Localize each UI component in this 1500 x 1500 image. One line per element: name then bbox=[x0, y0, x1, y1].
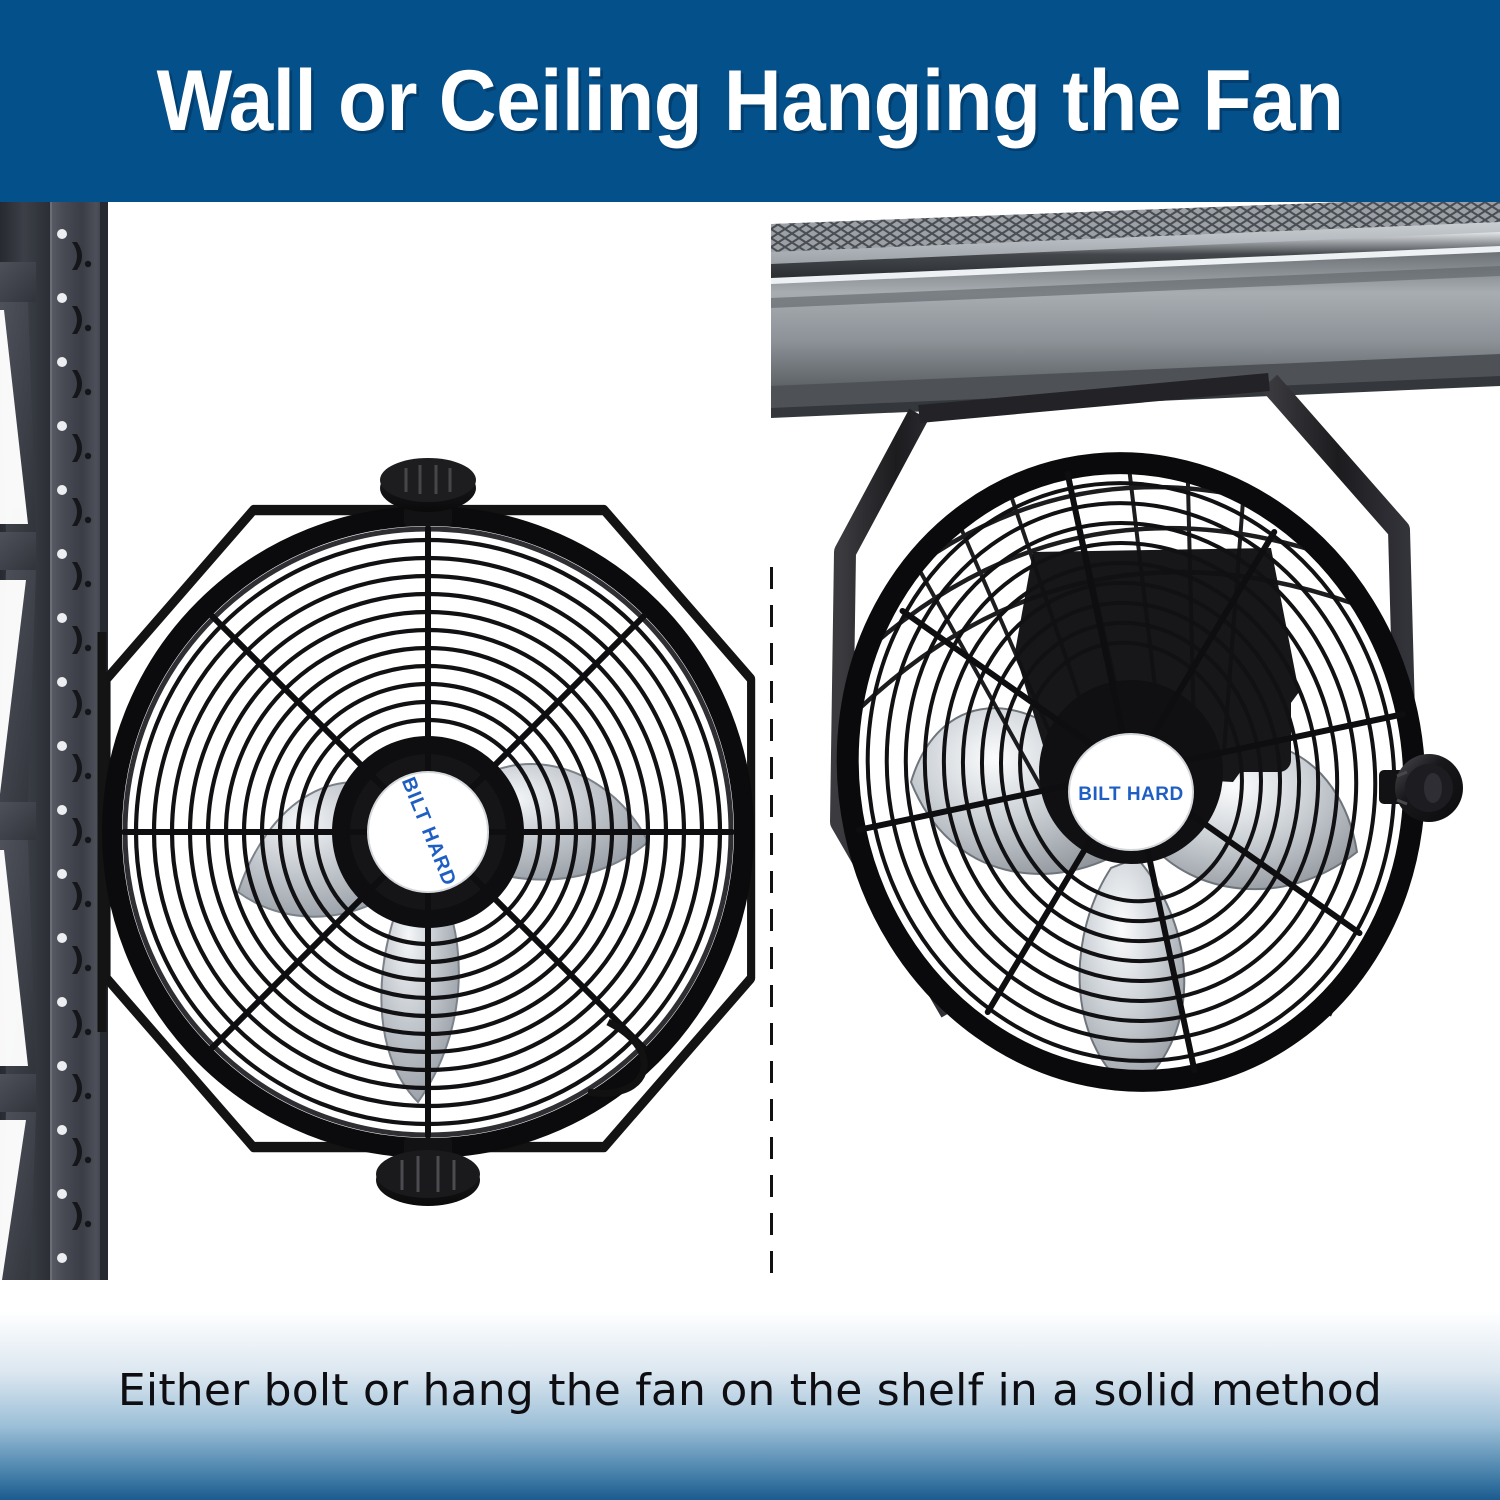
footer-caption: Either bolt or hang the fan on the shelf… bbox=[118, 1365, 1382, 1416]
panel-divider bbox=[770, 567, 773, 1280]
fan-ceiling-mounted: BILT HARD bbox=[801, 352, 1500, 1212]
footer-banner: Either bolt or hang the fan on the shelf… bbox=[0, 1280, 1500, 1500]
page-title: Wall or Ceiling Hanging the Fan bbox=[157, 52, 1344, 151]
infographic-page: Wall or Ceiling Hanging the Fan bbox=[0, 0, 1500, 1500]
header-banner: Wall or Ceiling Hanging the Fan bbox=[0, 0, 1500, 202]
fan-wall-mounted: BILT HARD bbox=[88, 332, 768, 1280]
image-band: BILT HARD bbox=[0, 202, 1500, 1280]
fan-brand-label-2: BILT HARD bbox=[1078, 784, 1183, 805]
panel-ceiling-mount: BILT HARD bbox=[771, 202, 1500, 1280]
panel-wall-mount: BILT HARD bbox=[0, 202, 771, 1280]
